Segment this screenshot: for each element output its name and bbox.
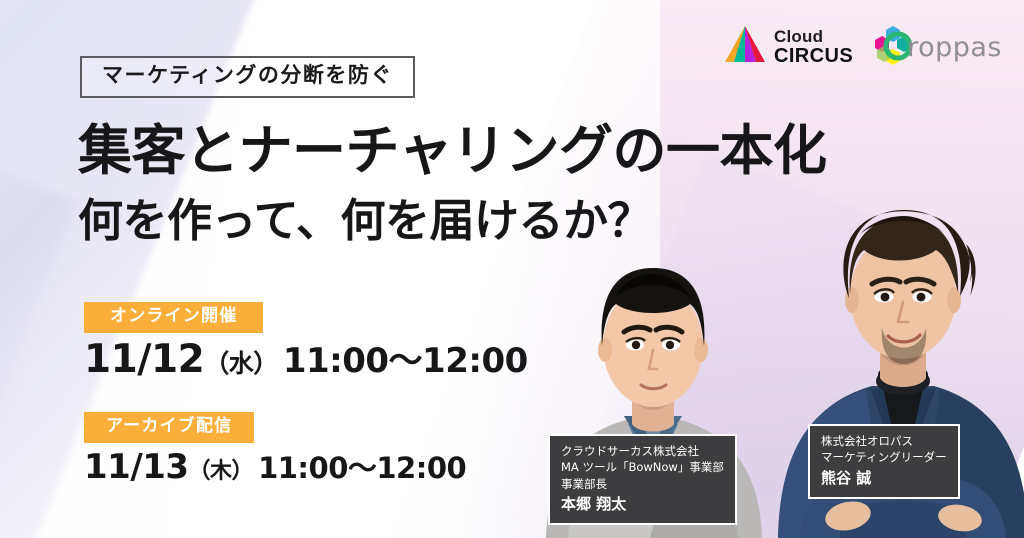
speaker-card-hongo: クラウドサーカス株式会社 MA ツール「BowNow」事業部 事業部長 本郷 翔…: [548, 434, 737, 525]
speaker-role-hongo: 事業部長: [561, 476, 724, 492]
schedule-block-live: オンライン開催 11/12（水）11:00〜12:00: [84, 302, 528, 380]
page-subtitle: 何を作って、何を届けるか？: [78, 196, 652, 246]
time-live: 11:00〜12:00: [283, 341, 528, 381]
logo-line-circus: CIRCUS: [774, 46, 853, 66]
datetime-live: 11/12（水）11:00〜12:00: [84, 340, 528, 381]
speaker-card-kumagai: 株式会社オロパス マーケティングリーダー 熊谷 誠: [808, 424, 960, 499]
cloud-circus-wordmark: Cloud CIRCUS: [774, 28, 853, 66]
date-archive: 11/13: [84, 447, 189, 487]
page-title: 集客とナーチャリングの一本化: [78, 122, 826, 180]
speaker-name-hongo: 本郷 翔太: [561, 494, 724, 515]
schedule-block-archive: アーカイブ配信 11/13（木）11:00〜12:00: [84, 412, 466, 485]
speaker-department-kumagai: マーケティングリーダー: [821, 449, 947, 465]
date-live: 11/12: [84, 337, 204, 382]
speaker-company-kumagai: 株式会社オロパス: [821, 433, 947, 449]
speaker-company-hongo: クラウドサーカス株式会社: [561, 443, 724, 459]
time-archive: 11:00〜12:00: [258, 451, 466, 485]
speaker-department-hongo: MA ツール「BowNow」事業部: [561, 459, 724, 475]
webinar-banner: Cloud CIRCUS roppas マーケティングの分断を防ぐ 集客とナーチ…: [0, 0, 1024, 538]
logo-line-cloud: Cloud: [774, 28, 853, 45]
logo-group: Cloud CIRCUS roppas: [723, 24, 1002, 70]
eyebrow-text: マーケティングの分断を防ぐ: [102, 63, 393, 87]
badge-online: オンライン開催: [84, 302, 263, 333]
weekday-live: （水）: [204, 349, 278, 378]
eyebrow-box: マーケティングの分断を防ぐ: [80, 56, 415, 98]
speaker-name-kumagai: 熊谷 誠: [821, 468, 947, 489]
logo-cloud-circus[interactable]: Cloud CIRCUS: [723, 24, 853, 70]
logo-oroppas[interactable]: roppas: [873, 24, 1002, 70]
badge-archive: アーカイブ配信: [84, 412, 254, 443]
circus-tent-icon: [723, 24, 767, 70]
weekday-archive: （木）: [189, 459, 254, 484]
datetime-archive: 11/13（木）11:00〜12:00: [84, 450, 466, 486]
oroppas-wordmark: roppas: [907, 32, 1002, 63]
